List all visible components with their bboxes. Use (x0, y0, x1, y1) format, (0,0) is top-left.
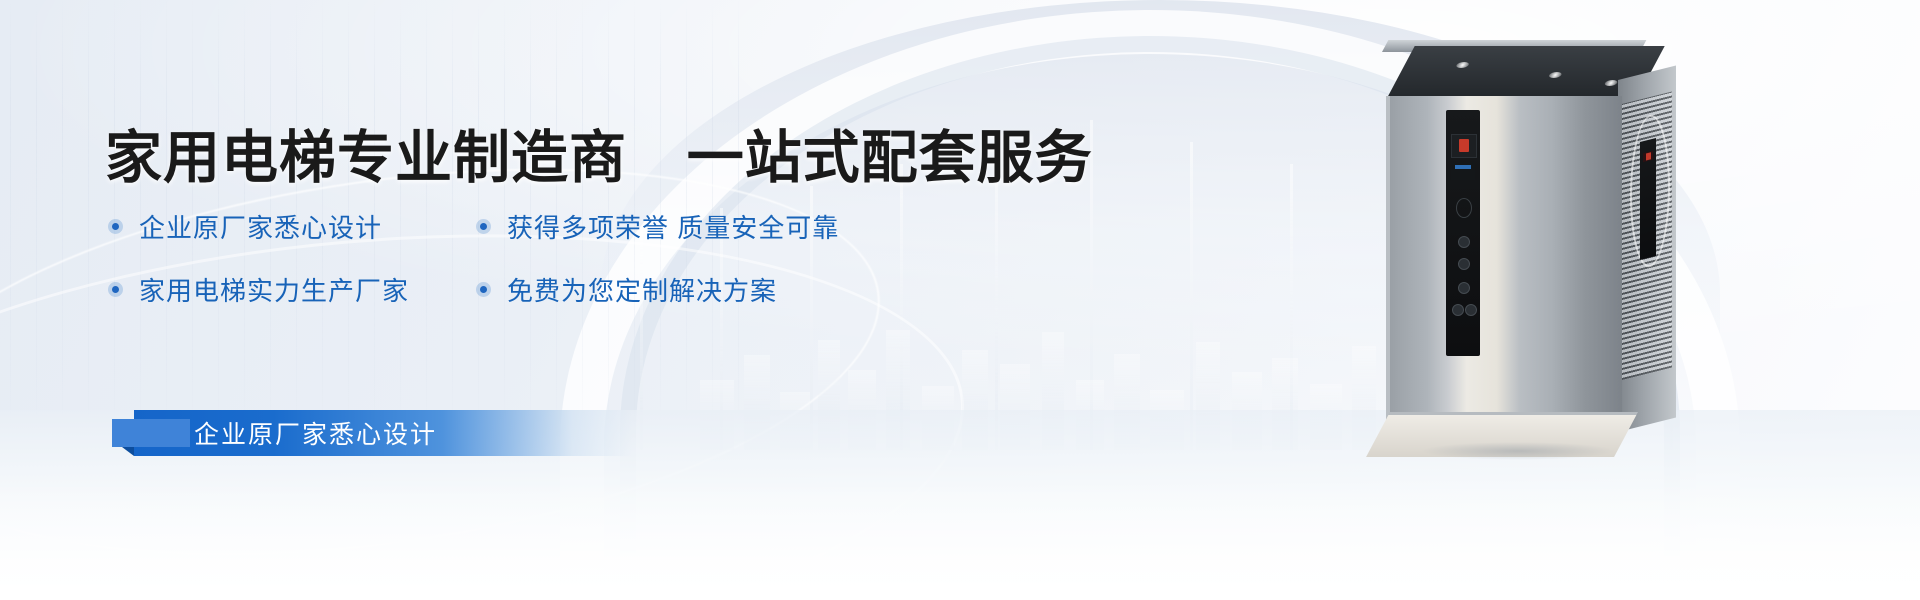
bullet-label: 获得多项荣誉 质量安全可靠 (507, 208, 839, 245)
page-title: 家用电梯专业制造商 一站式配套服务 (105, 112, 1093, 194)
bullet-item: 免费为您定制解决方案 (476, 271, 844, 308)
bullet-dot-icon (476, 219, 491, 234)
bullet-dot-icon (108, 282, 123, 297)
floor-button (1458, 282, 1470, 294)
bullet-row: 家用电梯实力生产厂家 免费为您定制解决方案 (108, 271, 968, 308)
panel-speaker-icon (1456, 198, 1472, 218)
panel-info-display (1451, 162, 1475, 180)
bullet-dot-icon (108, 219, 123, 234)
cab-shadow (1380, 438, 1656, 464)
cab-back-wall (1386, 96, 1622, 426)
door-close-button (1465, 304, 1477, 316)
bullet-item: 企业原厂家悉心设计 (108, 208, 476, 245)
banner-content: 家用电梯专业制造商 一站式配套服务 企业原厂家悉心设计 获得多项荣誉 质量安全可… (0, 0, 1100, 600)
door-open-button (1452, 304, 1464, 316)
bullet-row: 企业原厂家悉心设计 获得多项荣誉 质量安全可靠 (108, 208, 968, 245)
bullet-label: 家用电梯实力生产厂家 (139, 271, 409, 308)
ceiling-light-icon (1455, 62, 1470, 68)
cab-mirrored-panel (1640, 138, 1656, 260)
headline-part-2: 一站式配套服务 (687, 126, 1093, 190)
promo-banner: 家用电梯专业制造商 一站式配套服务 企业原厂家悉心设计 获得多项荣誉 质量安全可… (0, 0, 1920, 600)
ribbon-bar: 企业原厂家悉心设计 (134, 410, 632, 456)
ribbon-fold-tab-icon (112, 419, 190, 447)
cab-control-panel (1446, 110, 1480, 356)
headline-part-1: 家用电梯专业制造商 (105, 126, 627, 190)
ribbon-label: 企业原厂家悉心设计 (194, 415, 437, 451)
bullet-dot-icon (476, 282, 491, 297)
bullet-label: 免费为您定制解决方案 (507, 271, 777, 308)
ceiling-light-icon (1603, 80, 1618, 86)
bullet-item: 获得多项荣誉 质量安全可靠 (476, 208, 844, 245)
home-elevator-cab-image (1386, 46, 1676, 450)
highlight-ribbon: 企业原厂家悉心设计 (112, 410, 632, 460)
floor-button (1458, 258, 1470, 270)
ceiling-light-icon (1548, 72, 1563, 78)
bullet-label: 企业原厂家悉心设计 (139, 208, 382, 245)
floor-button (1458, 236, 1470, 248)
feature-bullet-list: 企业原厂家悉心设计 获得多项荣誉 质量安全可靠 家用电梯实力生产厂家 免费为您定… (108, 208, 968, 334)
mirrored-floor-indicator (1643, 151, 1653, 162)
bullet-item: 家用电梯实力生产厂家 (108, 271, 476, 308)
ribbon-fold-shadow-icon (122, 447, 134, 456)
floor-indicator-display (1451, 134, 1477, 158)
